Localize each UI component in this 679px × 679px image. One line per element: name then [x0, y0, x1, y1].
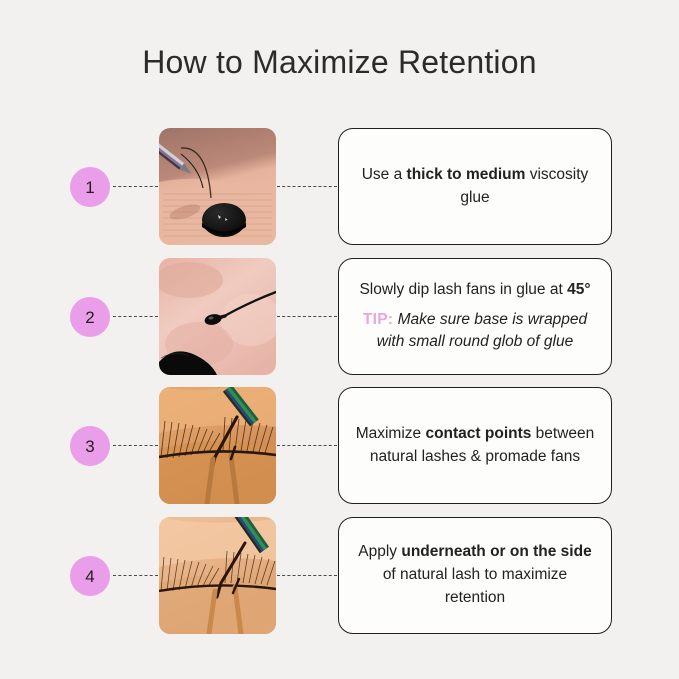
connector-line-badge-to-photo — [113, 575, 158, 576]
step-text-segment: Maximize — [356, 425, 426, 442]
step-text-emphasis: contact points — [425, 425, 531, 442]
step-number-badge: 2 — [70, 297, 110, 337]
connector-line-photo-to-card — [277, 186, 337, 187]
step-photo-2 — [159, 258, 276, 375]
step-text-segment: of natural lash to maximize retention — [383, 566, 567, 606]
connector-line-photo-to-card — [277, 445, 337, 446]
step-text-segment: Apply — [358, 543, 401, 560]
step-row: 1 — [0, 128, 679, 246]
tip-label: TIP: — [363, 311, 393, 328]
step-number-badge: 1 — [70, 167, 110, 207]
step-row: 3 — [0, 387, 679, 505]
step-text-2: Slowly dip lash fans in glue at 45° — [359, 279, 590, 302]
tip-text: Make sure base is wrapped with small rou… — [377, 311, 587, 351]
connector-line-badge-to-photo — [113, 186, 158, 187]
connector-line-photo-to-card — [277, 575, 337, 576]
page-title: How to Maximize Retention — [0, 44, 679, 81]
step-text-segment: Use a — [362, 166, 407, 183]
step-text-card-4: Apply underneath or on the side of natur… — [338, 517, 612, 634]
step-text-emphasis: 45° — [567, 281, 590, 298]
step-text-card-3: Maximize contact points between natural … — [338, 387, 612, 504]
step-row: 2 Slowly dip lash fans in — [0, 258, 679, 376]
step-number-badge: 4 — [70, 556, 110, 596]
step-number-badge: 3 — [70, 426, 110, 466]
connector-line-photo-to-card — [277, 316, 337, 317]
step-text-card-1: Use a thick to medium viscosity glue — [338, 128, 612, 245]
step-row: 4 — [0, 517, 679, 635]
step-tip-2: TIP: Make sure base is wrapped with smal… — [353, 309, 597, 355]
step-text-1: Use a thick to medium viscosity glue — [353, 164, 597, 210]
step-photo-1 — [159, 128, 276, 245]
connector-line-badge-to-photo — [113, 316, 158, 317]
connector-line-badge-to-photo — [113, 445, 158, 446]
step-photo-3 — [159, 387, 276, 504]
step-text-segment: Slowly dip lash fans in glue at — [359, 281, 567, 298]
step-text-3: Maximize contact points between natural … — [353, 423, 597, 469]
step-text-4: Apply underneath or on the side of natur… — [353, 541, 597, 610]
step-text-emphasis: underneath or on the side — [401, 543, 591, 560]
step-text-card-2: Slowly dip lash fans in glue at 45° TIP:… — [338, 258, 612, 375]
step-text-emphasis: thick to medium — [407, 166, 526, 183]
step-photo-4 — [159, 517, 276, 634]
